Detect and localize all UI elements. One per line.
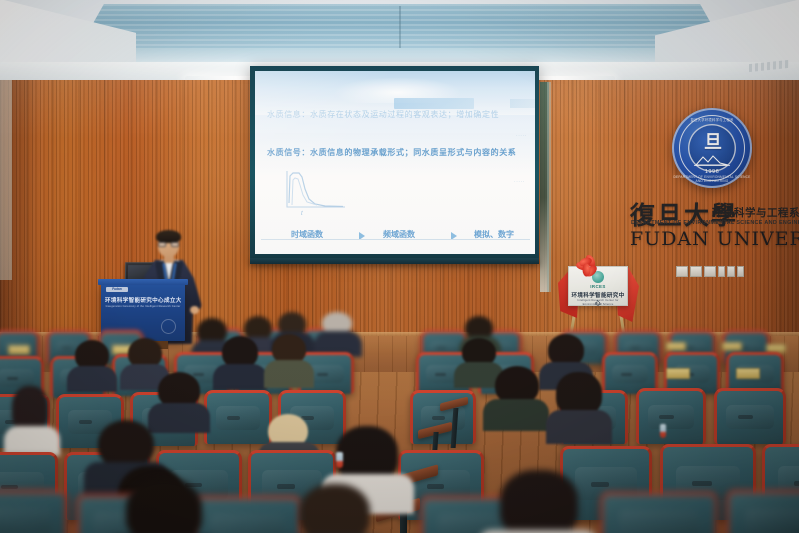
slide-micro-text-1: ····· — [516, 133, 527, 139]
ceremony-plaque-easel: IRCES 环境科学智能研究中心 Intelligent Research Ce… — [560, 260, 636, 322]
water-bottle[interactable] — [660, 424, 666, 438]
emblem-arc-bottom-text: DEPARTMENT OF ENVIRONMENTAL SCIENCE AND … — [672, 175, 752, 183]
slide-text-line-2: 水质信号：水质信息的物理承载形式；同水质呈形式与内容的关系 — [267, 147, 516, 158]
emblem-arc-top-text: 复旦大学环境科学与工程系 — [672, 117, 752, 122]
plaque-name-english: Intelligent Research Center for Environm… — [569, 298, 627, 306]
slide-chart-axis-label: t — [301, 211, 303, 217]
slide-footer-rule — [261, 239, 530, 240]
slide-header-accent — [394, 98, 474, 109]
seat[interactable] — [600, 492, 718, 533]
wall-panel-3[interactable] — [704, 266, 716, 277]
wall-panel-1[interactable] — [676, 266, 688, 277]
slide-waveform-chart — [279, 167, 349, 213]
screen-bottom-bar — [250, 258, 539, 264]
slide-flow-diagram: 时域函数 频域函数 模拟、数字 — [255, 226, 535, 248]
seat-nameplate — [722, 342, 742, 351]
seat-nameplate — [8, 345, 30, 355]
ribbon-flower-icon — [576, 256, 598, 278]
department-name-chinese: 环境科学与工程系 — [712, 205, 799, 220]
seat[interactable] — [636, 388, 706, 444]
podium-banner-chinese: 环境科学智能研究中心成立大会 — [105, 296, 181, 304]
slide-header-accent-secondary — [510, 99, 535, 108]
glasses-icon — [158, 242, 179, 247]
seat-nameplate — [666, 368, 690, 379]
emblem-mountain-icon — [694, 153, 730, 166]
wall-switch-1[interactable] — [718, 266, 725, 277]
seat-nameplate — [736, 368, 760, 379]
podium-top-surface — [98, 279, 188, 285]
slide-text-line-1: 水质信息：水质存在状态及运动过程的客观表达；增加确定性 — [267, 109, 499, 120]
seat-nameplate — [666, 342, 686, 351]
projection-screen: 水质信息：水质存在状态及运动过程的客观表达；增加确定性 ····· 水质信号：水… — [255, 71, 535, 254]
projection-screen-frame: 水质信息：水质存在状态及运动过程的客观表达；增加确定性 ····· 水质信号：水… — [250, 66, 539, 262]
plaque-acronym: IRCES — [569, 284, 627, 289]
slide-micro-text-2: ····· — [514, 179, 525, 185]
podium-seal-icon — [161, 319, 176, 334]
seat[interactable] — [204, 390, 272, 444]
lecture-hall-scene: 水质信息：水质存在状态及运动过程的客观表达；增加确定性 ····· 水质信号：水… — [0, 0, 799, 533]
emblem-character: 旦 — [672, 128, 752, 154]
presenter-hand — [190, 306, 199, 314]
wall-switch-3[interactable] — [737, 266, 744, 277]
fudan-emblem-logo: 复旦大学环境科学与工程系 旦 1996 DEPARTMENT OF ENVIRO… — [672, 108, 752, 188]
water-bottle[interactable] — [336, 452, 343, 468]
seat[interactable] — [192, 496, 302, 533]
department-name-english: DEPARTMENT OF ENVIRONMENTAL SCIENCE AND … — [631, 220, 799, 226]
side-door-edge-inner — [547, 82, 551, 292]
podium-logo-badge: Fudan — [106, 287, 128, 292]
ceiling-seam — [399, 6, 401, 50]
wall-panel-2[interactable] — [690, 266, 702, 277]
seat[interactable] — [726, 490, 799, 533]
wall-control-panels[interactable] — [676, 266, 744, 278]
university-name-english: FUDAN UNIVERSITY — [630, 228, 799, 250]
podium-banner-english: Inauguration Ceremony of the Intelligent… — [105, 305, 181, 308]
seat[interactable] — [714, 388, 786, 444]
left-wall-edge-panel — [0, 80, 12, 280]
wall-switch-2[interactable] — [727, 266, 734, 277]
acoustic-ceiling-panel — [78, 4, 726, 50]
seat[interactable] — [0, 490, 68, 533]
